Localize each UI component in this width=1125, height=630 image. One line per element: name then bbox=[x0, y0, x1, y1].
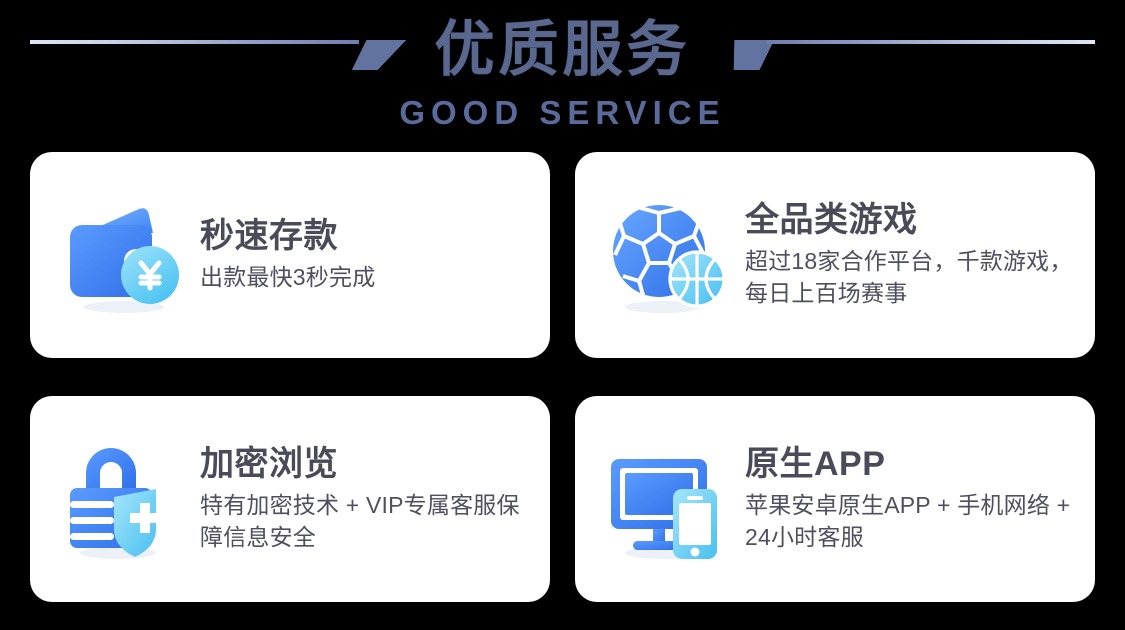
page-title: 优质服务 bbox=[413, 19, 713, 80]
feature-card-games[interactable]: 全品类游戏 超过18家合作平台，千款游戏，每日上百场赛事 bbox=[575, 152, 1095, 358]
right-rule-slant bbox=[719, 40, 774, 70]
left-rule-slant bbox=[351, 40, 406, 70]
soccer-basketball-icon bbox=[601, 189, 733, 321]
feature-card-title: 秒速存款 bbox=[200, 216, 532, 256]
feature-card-grid: 秒速存款 出款最快3秒完成 bbox=[30, 152, 1095, 602]
feature-card-desc: 出款最快3秒完成 bbox=[200, 262, 532, 294]
page-title-cn: 优质服务 bbox=[435, 19, 691, 80]
page-subtitle-en: GOOD SERVICE bbox=[0, 96, 1125, 129]
feature-card-desc: 苹果安卓原生APP + 手机网络 + 24小时客服 bbox=[745, 490, 1077, 553]
right-decorative-rule bbox=[713, 19, 1125, 81]
feature-card-text: 秒速存款 出款最快3秒完成 bbox=[200, 216, 532, 294]
feature-card-deposit[interactable]: 秒速存款 出款最快3秒完成 bbox=[30, 152, 550, 358]
feature-card-title: 加密浏览 bbox=[200, 444, 532, 484]
feature-card-title: 全品类游戏 bbox=[745, 200, 1077, 240]
feature-card-text: 全品类游戏 超过18家合作平台，千款游戏，每日上百场赛事 bbox=[745, 200, 1077, 310]
lock-shield-icon bbox=[56, 433, 188, 565]
wallet-yen-icon bbox=[56, 189, 188, 321]
left-decorative-rule bbox=[0, 19, 413, 81]
monitor-phone-icon bbox=[601, 433, 733, 565]
header-rule-row: 优质服务 bbox=[0, 0, 1125, 100]
feature-card-title: 原生APP bbox=[745, 444, 1077, 484]
left-rule-line bbox=[30, 40, 359, 44]
feature-card-desc: 超过18家合作平台，千款游戏，每日上百场赛事 bbox=[745, 246, 1077, 309]
feature-card-text: 加密浏览 特有加密技术 + VIP专属客服保障信息安全 bbox=[200, 444, 532, 554]
feature-card-encryption[interactable]: 加密浏览 特有加密技术 + VIP专属客服保障信息安全 bbox=[30, 396, 550, 602]
right-rule-line bbox=[767, 40, 1096, 44]
promo-page: 优质服务 GOOD SERVICE bbox=[0, 0, 1125, 630]
feature-card-text: 原生APP 苹果安卓原生APP + 手机网络 + 24小时客服 bbox=[745, 444, 1077, 554]
page-header: 优质服务 GOOD SERVICE bbox=[0, 0, 1125, 146]
feature-card-native-app[interactable]: 原生APP 苹果安卓原生APP + 手机网络 + 24小时客服 bbox=[575, 396, 1095, 602]
feature-card-desc: 特有加密技术 + VIP专属客服保障信息安全 bbox=[200, 490, 532, 553]
